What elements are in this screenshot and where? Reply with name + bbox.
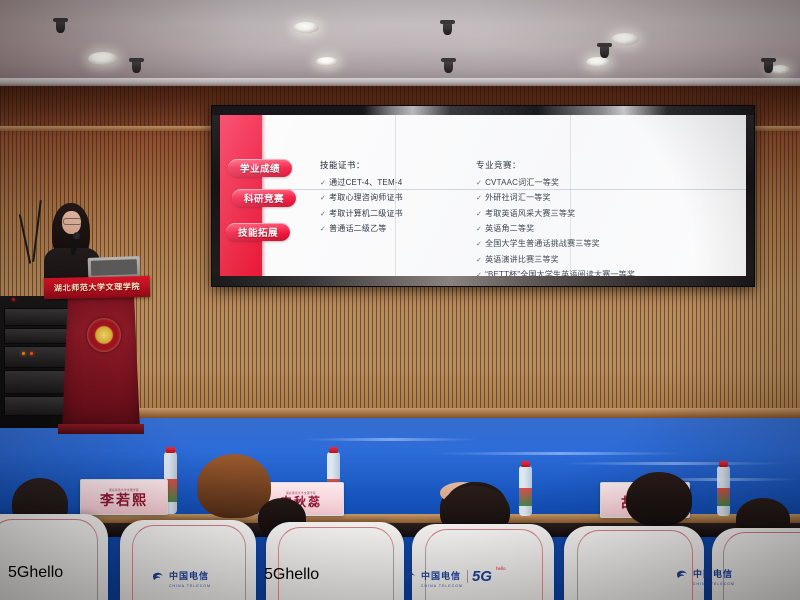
bottle-label [519,488,532,506]
list-item: ✓考取计算机二级证书 [320,206,403,221]
chair-5g-logo: 5G hello [264,566,319,584]
ceiling-light [770,65,790,74]
list-item-label: 外研社词汇一等奖 [485,193,551,202]
ceiling-light [88,52,118,65]
list-item-label: “BETT杯”全国大学生英语阅读大赛一等奖 [485,270,635,276]
bottle-cap [719,461,728,467]
ceiling-light [293,22,319,33]
bottle-cap [329,447,338,453]
rack-unit [4,346,70,368]
list-item: ✓CVTAAC词汇一等奖 [476,175,635,190]
bezel-bottom-gleam [212,276,754,286]
list-item: ✓考取心理咨询师证书 [320,190,403,205]
chair-cover [412,524,554,600]
brand-name-cn: 中国电信 [169,571,209,581]
rack-unit [4,370,70,394]
bottle-cap [166,447,175,453]
conference-hall-photo: 学业成绩 科研竞赛 技能拓展 技能证书： ✓通过CET-4、TEM-4 ✓考取心… [0,0,800,600]
brand-name-cn: 中国电信 [421,571,461,581]
check-icon: ✓ [476,211,482,218]
chair-cover [0,514,108,600]
sprinkler-head [764,60,773,73]
presentation-screen[interactable]: 学业成绩 科研竞赛 技能拓展 技能证书： ✓通过CET-4、TEM-4 ✓考取心… [220,115,746,276]
status-led [22,352,25,355]
brand-name-en: CHINA TELECOM [169,585,211,588]
av-equipment-rack [0,296,73,428]
column-heading: 技能证书： [320,157,403,173]
bottle-cap [521,461,530,467]
list-item-label: 考取心理咨询师证书 [329,193,403,202]
bottle-label [717,488,730,506]
status-led [12,298,15,301]
sprinkler-head [56,20,65,33]
brand-name-cn: 中国电信 [693,569,733,579]
check-icon: ✓ [476,180,482,187]
list-item: ✓全国大学生普通话挑战赛三等奖 [476,236,635,251]
podium-banner: 湖北师范大学文理学院 [44,276,150,299]
ceiling-light [611,33,639,45]
rack-unit [4,396,70,416]
chair-cover [266,522,404,600]
chair-china-telecom-brand: 中国电信 CHINA TELECOM [152,566,211,588]
list-item: ✓英语演讲比赛三等奖 [476,252,635,267]
list-item: ✓“BETT杯”全国大学生英语阅读大赛一等奖 [476,267,635,276]
five-g-number: 5G [8,564,29,582]
carpet-fold [300,438,480,441]
rack-unit [4,308,70,326]
name-card: 湖北师范大学文理学院 李若熙 [80,479,168,515]
water-bottle [717,466,730,516]
list-item-label: 英语角二等奖 [485,224,534,233]
slide-tab-research: 科研竞赛 [232,189,296,207]
water-bottle [519,466,532,516]
chair-cover [120,520,256,600]
sprinkler-head [600,45,609,58]
list-item: ✓普通话二级乙等 [320,221,403,236]
check-icon: ✓ [320,195,326,202]
column-heading: 专业竞赛： [476,157,635,173]
sprinkler-head [443,22,452,35]
podium-base [58,424,144,434]
led-screen-bezel: 学业成绩 科研竞赛 技能拓展 技能证书： ✓通过CET-4、TEM-4 ✓考取心… [211,105,755,287]
brand-name-en: CHINA TELECOM [693,583,735,586]
check-icon: ✓ [320,211,326,218]
brand-name-en: CHINA TELECOM [421,585,463,588]
chair-china-telecom-brand: 中国电信 CHINA TELECOM 5G hello [404,566,505,588]
check-icon: ✓ [320,180,326,187]
university-emblem-icon [87,318,121,352]
list-item: ✓英语角二等奖 [476,221,635,236]
bezel-top-gleam [212,106,754,115]
slide-column-competitions: 专业竞赛： ✓CVTAAC词汇一等奖 ✓外研社词汇一等奖 ✓考取英语风采大赛三等… [476,157,635,276]
ceiling [0,0,800,84]
brand-divider [467,570,468,583]
check-icon: ✓ [476,195,482,202]
speaking-podium [62,290,140,430]
list-item: ✓考取英语风采大赛三等奖 [476,206,635,221]
eyeglasses-icon [63,218,82,225]
china-telecom-logo-icon [152,570,165,583]
list-item: ✓外研社词汇一等奖 [476,190,635,205]
name-card-org: 湖北师范大学文理学院 [109,488,139,492]
five-g-number: 5G [472,569,492,584]
check-icon: ✓ [320,226,326,233]
chair-china-telecom-brand: 中国电信 CHINA TELECOM [676,564,735,586]
chair-5g-logo: 5G hello [8,564,63,582]
list-item-label: 通过CET-4、TEM-4 [329,178,402,187]
check-icon: ✓ [476,241,482,248]
audience-head [626,472,692,526]
list-item-label: 英语演讲比赛三等奖 [485,255,559,264]
check-icon: ✓ [476,272,482,276]
check-icon: ✓ [476,257,482,264]
ceiling-light [586,57,610,67]
china-telecom-logo-icon [676,568,689,581]
hello-tagline: hello [285,566,319,584]
name-card-name: 李若熙 [100,493,148,507]
slide-tab-skills: 技能拓展 [226,223,290,241]
slide-tab-academic: 学业成绩 [228,159,292,177]
carpet-fold [430,452,690,455]
status-led [30,352,33,355]
sprinkler-head [132,60,141,73]
name-card-org: 湖北师范大学文理学院 [286,491,316,495]
list-item-label: 普通话二级乙等 [329,224,386,233]
rack-unit [4,328,70,344]
carpet-fold [560,462,790,465]
ceiling-light [316,57,338,66]
china-telecom-logo-icon [404,570,417,583]
slide-column-certificates: 技能证书： ✓通过CET-4、TEM-4 ✓考取心理咨询师证书 ✓考取计算机二级… [320,157,403,236]
list-item: ✓通过CET-4、TEM-4 [320,175,403,190]
check-icon: ✓ [476,226,482,233]
sprinkler-head [444,60,453,73]
list-item-label: 全国大学生普通话挑战赛三等奖 [485,239,600,248]
list-item-label: 考取英语风采大赛三等奖 [485,209,575,218]
five-g-number: 5G [264,566,285,584]
list-item-label: CVTAAC词汇一等奖 [485,178,559,187]
list-item-label: 考取计算机二级证书 [329,209,403,218]
hello-tagline: hello [496,567,506,572]
hello-tagline: hello [29,564,63,582]
